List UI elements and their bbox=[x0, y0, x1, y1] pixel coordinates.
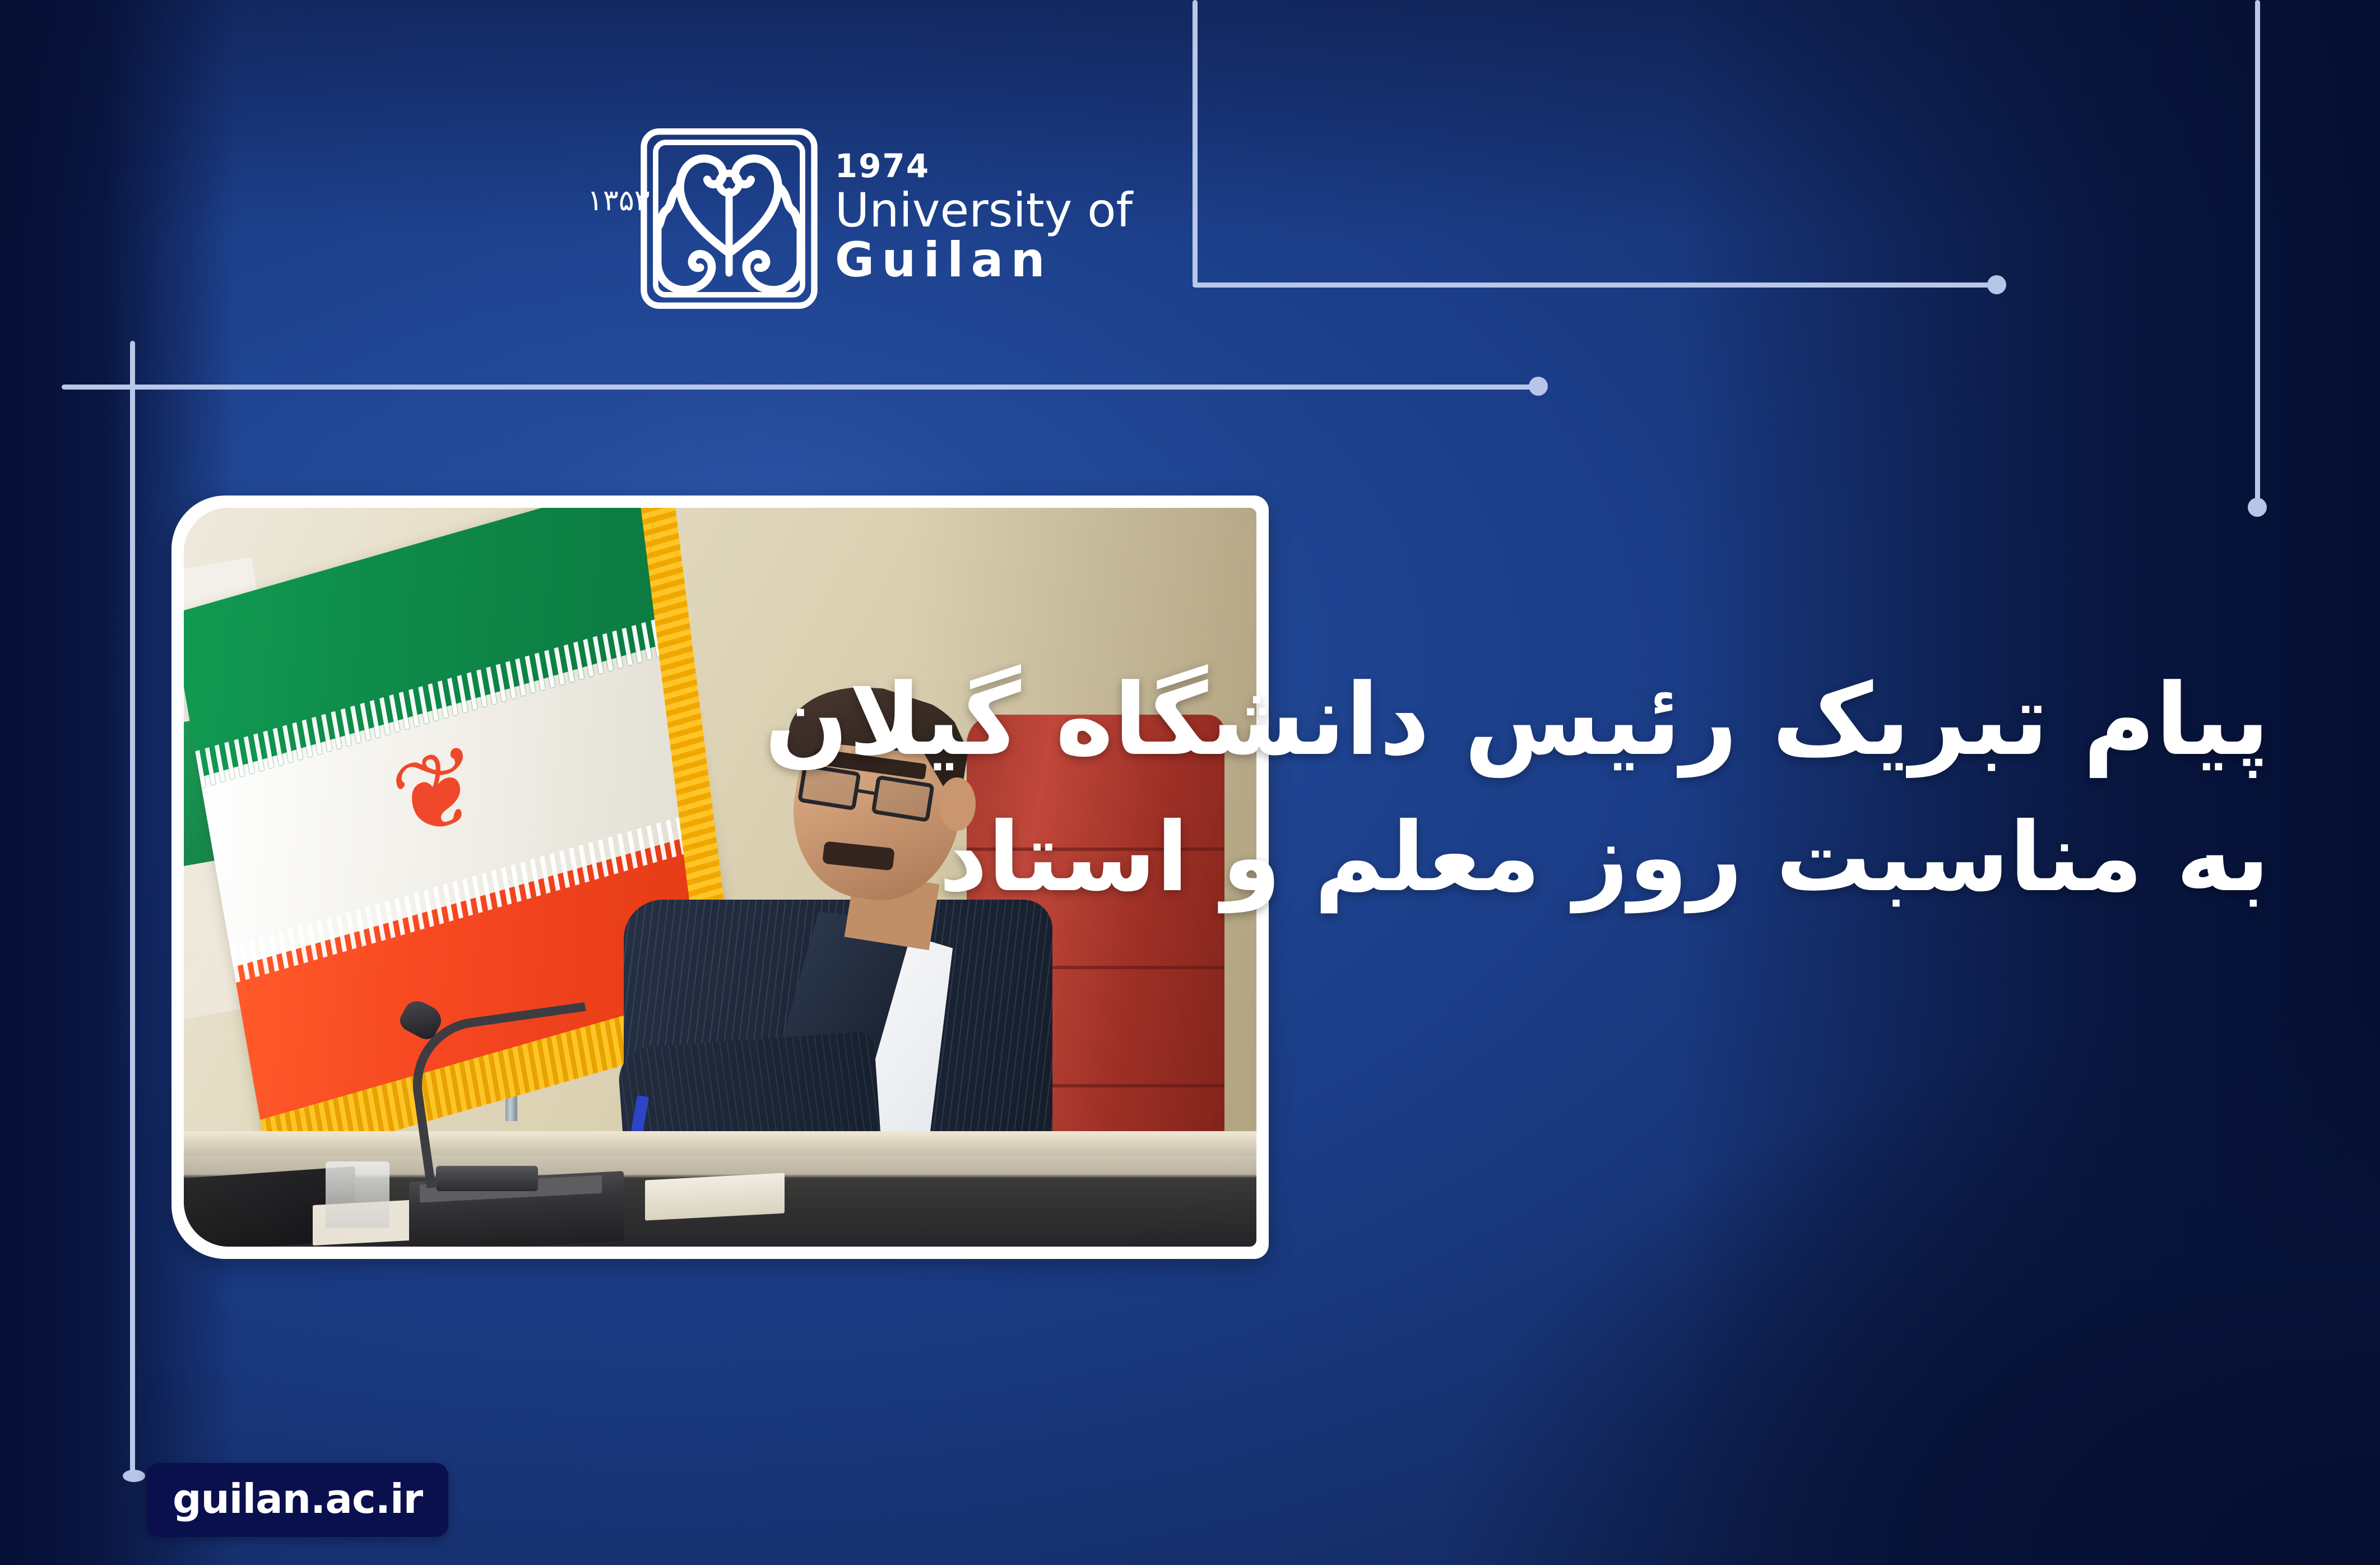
headline-block: پیام تبریک رئیس دانشگاه گیلان به مناسبت … bbox=[1261, 650, 2270, 925]
guilan-butterfly-emblem-icon bbox=[638, 126, 820, 311]
decor-dot-top-right bbox=[1987, 275, 2006, 294]
logo-founding-year-persian: ۱۳۵۳ bbox=[587, 184, 650, 217]
decor-dot-right bbox=[2248, 498, 2267, 517]
headline-line-2: به مناسبت روز معلم و استاد bbox=[1261, 790, 2270, 925]
logo-founding-year-latin: 1974 bbox=[835, 150, 930, 182]
logo-name-line-university: University of bbox=[835, 187, 1133, 234]
decor-rule-left-vertical bbox=[130, 341, 135, 1479]
logo-name-line-guilan: Guilan bbox=[835, 236, 1052, 284]
decor-rule-top-right-vertical bbox=[1193, 0, 1198, 285]
photo-desk-top bbox=[184, 1131, 1256, 1155]
university-logo-lockup: 1974 University of Guilan bbox=[168, 126, 1133, 311]
logo-english-text-block: 1974 University of Guilan bbox=[820, 150, 1133, 288]
headline-line-1: پیام تبریک رئیس دانشگاه گیلان bbox=[1261, 650, 2270, 790]
photo-notebook bbox=[645, 1173, 785, 1221]
logo-persian-wordmark: دانشگاه گیلان bbox=[168, 149, 594, 284]
photo-glass bbox=[326, 1161, 390, 1228]
decor-dot-mid-left bbox=[1529, 377, 1548, 396]
decor-rule-mid-left-horizontal bbox=[62, 385, 1541, 390]
decor-rule-top-right-horizontal bbox=[1193, 283, 1997, 288]
decor-rule-right-vertical bbox=[2255, 0, 2260, 507]
decor-dot-left-bottom bbox=[123, 1470, 145, 1482]
logo-persian-text-block: ۱۳۵۳ دانشگاه گیلان bbox=[168, 149, 638, 288]
website-url-badge[interactable]: guilan.ac.ir bbox=[147, 1463, 448, 1537]
banner-canvas: 1974 University of Guilan bbox=[0, 0, 2380, 1565]
